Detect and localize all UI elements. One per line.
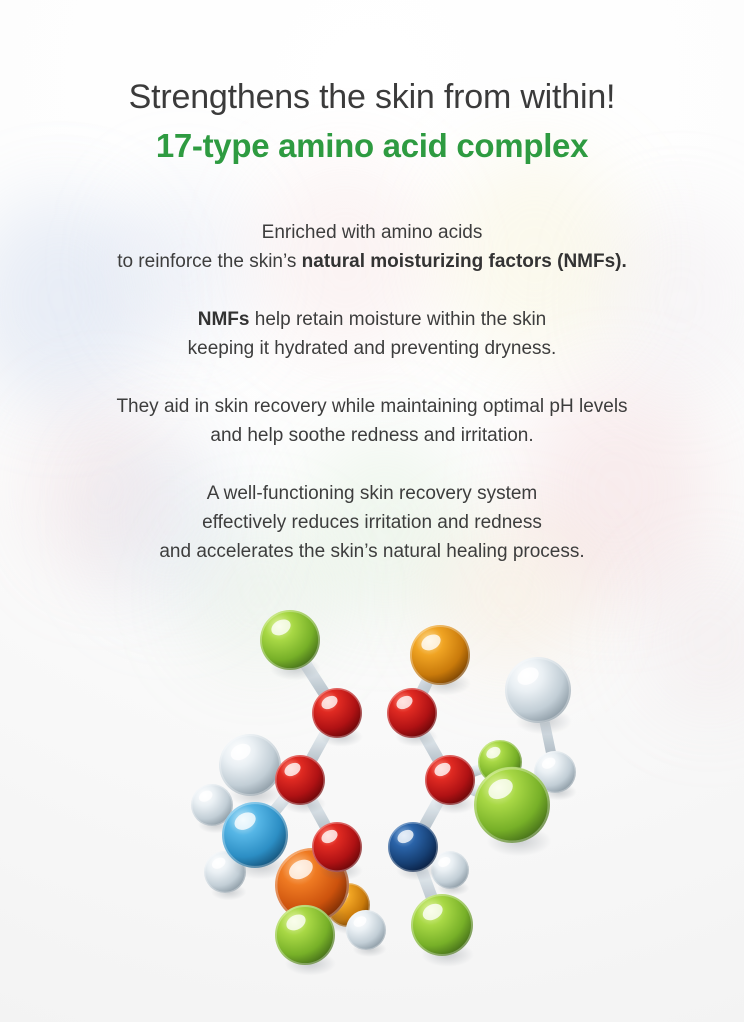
para-2: NMFs help retain moisture within the ski… <box>0 305 744 363</box>
copy-text: A well-functioning skin recovery system <box>207 483 538 504</box>
copy-emphasis: NMFs <box>198 309 250 330</box>
molecule-atom-sub-green-top <box>260 610 321 681</box>
molecule-atom-ring-bottom-right <box>388 822 439 881</box>
para-3: They aid in skin recovery while maintain… <box>0 392 744 450</box>
copy-emphasis: natural moisturizing factors (NMFs). <box>302 251 627 272</box>
molecule-graphic <box>0 600 744 1000</box>
copy-line: A well-functioning skin recovery system <box>0 479 744 508</box>
copy-line: Enriched with amino acids <box>0 218 744 247</box>
body-copy: Enriched with amino acidsto reinforce th… <box>0 218 744 566</box>
copy-line: to reinforce the skin’s natural moisturi… <box>0 247 744 276</box>
molecule-atom-sub-green-right <box>474 767 551 856</box>
para-4: A well-functioning skin recovery systeme… <box>0 479 744 566</box>
copy-text: keeping it hydrated and preventing dryne… <box>188 338 557 359</box>
copy-text: effectively reduces irritation and redne… <box>202 512 542 533</box>
copy-text: and help soothe redness and irritation. <box>210 425 533 446</box>
copy-line: and accelerates the skin’s natural heali… <box>0 537 744 566</box>
copy-text: and accelerates the skin’s natural heali… <box>159 541 584 562</box>
molecule-illustration <box>0 600 744 1000</box>
para-1: Enriched with amino acidsto reinforce th… <box>0 218 744 276</box>
copy-line: NMFs help retain moisture within the ski… <box>0 305 744 334</box>
copy-line: They aid in skin recovery while maintain… <box>0 392 744 421</box>
copy-text: They aid in skin recovery while maintain… <box>116 396 627 417</box>
molecule-atoms <box>191 610 577 976</box>
copy-line: effectively reduces irritation and redne… <box>0 508 744 537</box>
heading-block: Strengthens the skin from within! 17-typ… <box>0 0 744 166</box>
molecule-atom-free-silver-large <box>505 657 572 735</box>
molecule-atom-sub-green-bottom <box>275 905 336 976</box>
copy-text: Enriched with amino acids <box>262 222 483 243</box>
molecule-atom-sub-silver-bottom <box>346 910 387 957</box>
copy-text: help retain moisture within the skin <box>249 309 546 330</box>
copy-text: to reinforce the skin’s <box>117 251 301 272</box>
copy-line: keeping it hydrated and preventing dryne… <box>0 334 744 363</box>
page-title: Strengthens the skin from within! <box>0 76 744 119</box>
page-subtitle: 17-type amino acid complex <box>0 125 744 166</box>
molecule-atom-sub-green-botright <box>411 894 474 967</box>
molecule-atom-ring-top-right <box>387 688 438 747</box>
promo-page: Strengthens the skin from within! 17-typ… <box>0 0 744 1022</box>
copy-line: and help soothe redness and irritation. <box>0 421 744 450</box>
